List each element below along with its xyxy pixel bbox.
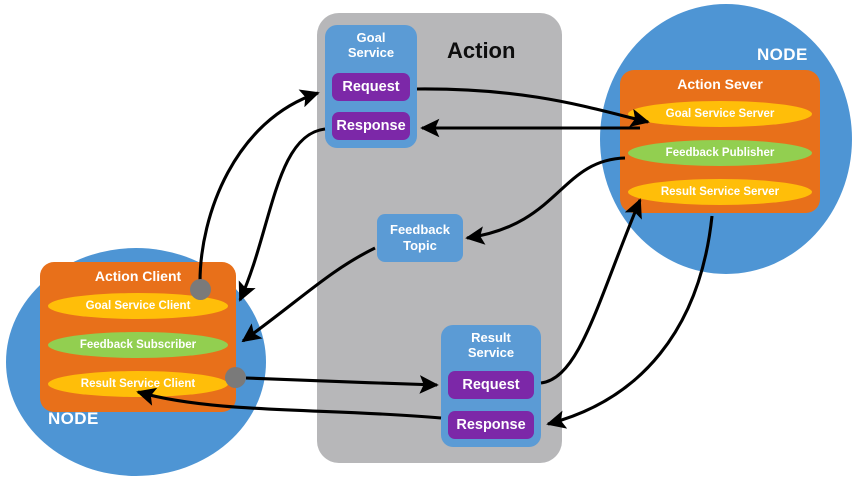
result-service-request-box: Request [448, 371, 534, 399]
arrow-goal-client-to-request [200, 93, 318, 282]
result-client-connector-dot [225, 367, 246, 388]
goal-service-title-line1: Goal [325, 30, 417, 45]
goal-service-title: Goal Service [325, 30, 417, 60]
diagram-canvas: Action NODE NODE Action Client Goal Serv… [0, 0, 854, 480]
feedback-topic-box: Feedback Topic [377, 214, 463, 262]
goal-service-box: Goal Service Request Response [325, 25, 417, 148]
goal-service-server-pill: Goal Service Server [628, 101, 812, 127]
goal-service-response-box: Response [332, 112, 410, 140]
result-service-title-line2: Service [441, 345, 541, 360]
result-service-response-box: Response [448, 411, 534, 439]
goal-client-connector-dot [190, 279, 211, 300]
feedback-publisher-pill: Feedback Publisher [628, 140, 812, 166]
result-service-title: Result Service [441, 330, 541, 360]
feedback-topic-title-line2: Topic [403, 238, 437, 254]
feedback-topic-title-line1: Feedback [390, 222, 450, 238]
result-service-server-pill: Result Service Server [628, 179, 812, 205]
goal-service-title-line2: Service [325, 45, 417, 60]
result-service-box: Result Service Request Response [441, 325, 541, 447]
result-service-title-line1: Result [441, 330, 541, 345]
goal-service-request-box: Request [332, 73, 410, 101]
feedback-subscriber-pill: Feedback Subscriber [48, 332, 228, 358]
action-server-box: Action Sever Goal Service Server Feedbac… [620, 70, 820, 213]
arrow-goal-response-to-client [240, 129, 325, 300]
node-client-label: NODE [48, 409, 99, 429]
action-panel-title: Action [447, 38, 515, 64]
node-server-label: NODE [757, 45, 808, 65]
action-server-title: Action Sever [620, 76, 820, 92]
result-service-client-pill: Result Service Client [48, 371, 228, 397]
